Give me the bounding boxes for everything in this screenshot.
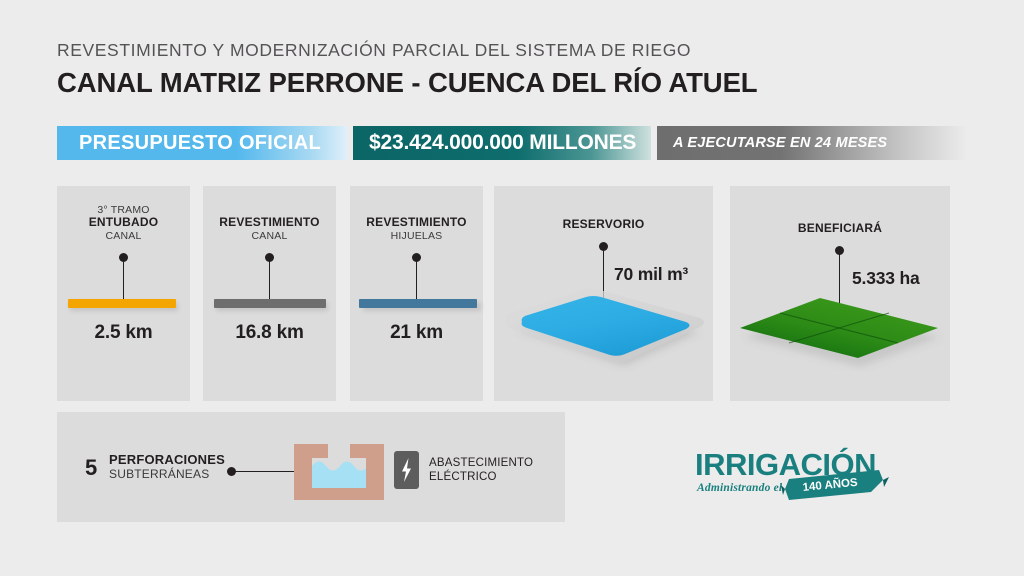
card-title-main: BENEFICIARÁ	[730, 222, 950, 236]
card-value: 21 km	[350, 322, 483, 344]
header-block: REVESTIMIENTO Y MODERNIZACIÓN PARCIAL DE…	[57, 40, 977, 99]
pin-stem-icon	[416, 260, 418, 304]
banner-segment-term: A EJECUTARSE EN 24 MESES	[657, 126, 967, 160]
card-value: 16.8 km	[203, 322, 336, 344]
water-well-icon	[294, 444, 384, 500]
banner-label-text: PRESUPUESTO OFICIAL	[79, 132, 321, 155]
supply-label-line1: ABASTECIMIENTO	[429, 457, 533, 471]
card-title-main: REVESTIMIENTO	[350, 216, 483, 230]
card-title-main: REVESTIMIENTO	[203, 216, 336, 230]
card-beneficiara: BENEFICIARÁ 5.333 ha	[730, 186, 950, 401]
banner-term-text: A EJECUTARSE EN 24 MESES	[673, 135, 887, 151]
pin-stem-icon	[123, 260, 125, 304]
card-title-sub: HIJUELAS	[350, 230, 483, 242]
banner-segment-label: PRESUPUESTO OFICIAL	[57, 126, 347, 160]
perforaciones-label-sub: SUBTERRÁNEAS	[109, 468, 225, 482]
card-perforaciones: 5 PERFORACIONES SUBTERRÁNEAS	[57, 412, 565, 522]
measure-bar	[359, 299, 477, 308]
card-title-main: ENTUBADO	[57, 216, 190, 230]
measure-bar	[68, 299, 176, 308]
kicker-text: REVESTIMIENTO Y MODERNIZACIÓN PARCIAL DE…	[57, 40, 977, 62]
reservoir-shape-icon	[494, 282, 713, 372]
field-shape-icon	[730, 291, 950, 371]
perforaciones-label: PERFORACIONES SUBTERRÁNEAS	[109, 453, 225, 482]
electric-supply-label: ABASTECIMIENTO ELÉCTRICO	[429, 457, 533, 485]
card-title-main: RESERVORIO	[494, 218, 713, 232]
card-value: 5.333 ha	[852, 268, 919, 289]
irrigacion-logo: IRRIGACIÓN Administrando el agua 140 AÑO…	[693, 443, 893, 505]
connector-line	[233, 471, 295, 473]
pin-stem-icon	[269, 260, 271, 304]
budget-banner: PRESUPUESTO OFICIAL $23.424.000.000 MILL…	[57, 126, 967, 160]
measure-bar	[214, 299, 326, 308]
banner-segment-amount: $23.424.000.000 MILLONES	[353, 126, 651, 160]
infographic-root: REVESTIMIENTO Y MODERNIZACIÓN PARCIAL DE…	[0, 0, 1024, 576]
card-title-sub: CANAL	[203, 230, 336, 242]
card-tramo-entubado-canal: 3° TRAMO ENTUBADO CANAL 2.5 km	[57, 186, 190, 401]
card-revestimiento-hijuelas: REVESTIMIENTO HIJUELAS 21 km	[350, 186, 483, 401]
card-title-sub: CANAL	[57, 230, 190, 242]
supply-label-line2: ELÉCTRICO	[429, 471, 533, 485]
card-reservorio: RESERVORIO 70 mil m³	[494, 186, 713, 401]
electric-supply-icon	[394, 451, 419, 489]
card-value: 2.5 km	[57, 322, 190, 344]
page-title: CANAL MATRIZ PERRONE - CUENCA DEL RÍO AT…	[57, 66, 977, 99]
perforaciones-label-main: PERFORACIONES	[109, 453, 225, 468]
banner-amount-text: $23.424.000.000 MILLONES	[369, 131, 636, 155]
card-revestimiento-canal: REVESTIMIENTO CANAL 16.8 km	[203, 186, 336, 401]
perforaciones-count: 5	[85, 457, 97, 479]
